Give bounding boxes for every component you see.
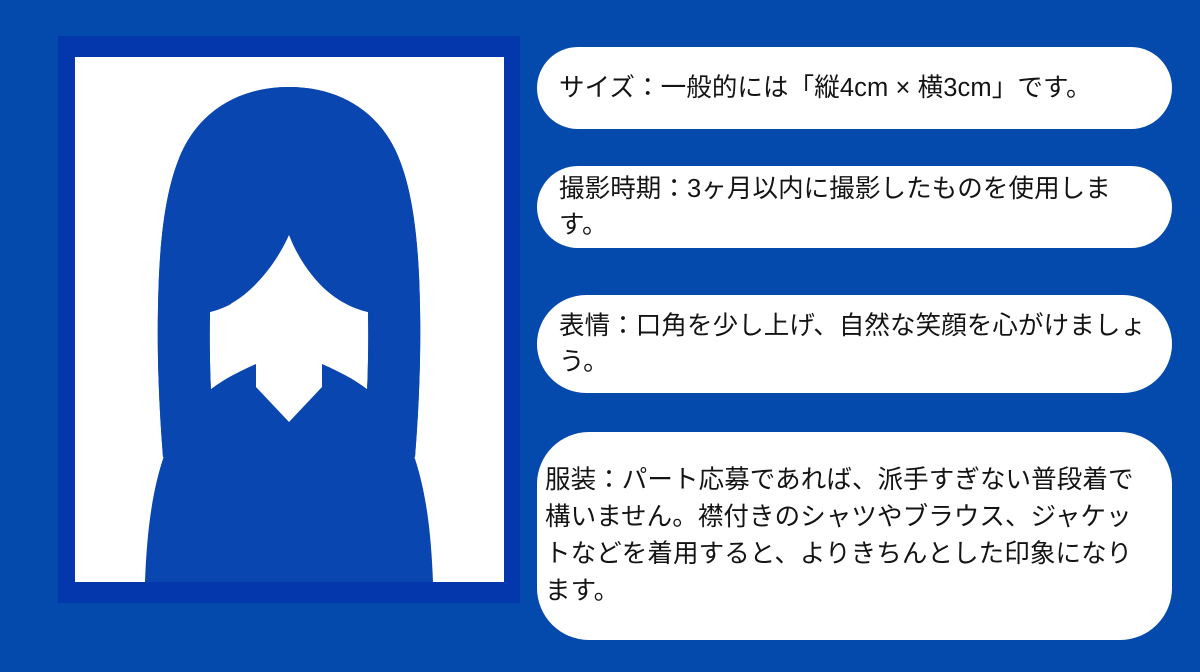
guidance-card-size-text: サイズ：一般的には「縦4cm × 横3cm」です。 (559, 70, 1092, 106)
female-portrait-silhouette-icon (75, 57, 504, 582)
guidance-card-timing-text: 撮影時期：3ヶ月以内に撮影したものを使用します。 (559, 171, 1150, 243)
guidance-card-clothing: 服装：パート応募であれば、派手すぎない普段着で構いません。襟付きのシャツやブラウ… (537, 432, 1172, 640)
page-root: サイズ：一般的には「縦4cm × 横3cm」です。 撮影時期：3ヶ月以内に撮影し… (0, 0, 1200, 672)
guidance-card-clothing-text: 服装：パート応募であれば、派手すぎない普段着で構いません。襟付きのシャツやブラウ… (545, 462, 1154, 611)
id-photo-image (75, 57, 504, 582)
guidance-card-expression: 表情：口角を少し上げ、自然な笑顔を心がけましょう。 (537, 295, 1172, 393)
guidance-card-expression-text: 表情：口角を少し上げ、自然な笑顔を心がけましょう。 (559, 308, 1150, 380)
guidance-card-timing: 撮影時期：3ヶ月以内に撮影したものを使用します。 (537, 166, 1172, 248)
id-photo-frame (58, 36, 520, 603)
guidance-card-size: サイズ：一般的には「縦4cm × 横3cm」です。 (537, 47, 1172, 129)
guidance-card-list: サイズ：一般的には「縦4cm × 横3cm」です。 撮影時期：3ヶ月以内に撮影し… (537, 0, 1177, 672)
